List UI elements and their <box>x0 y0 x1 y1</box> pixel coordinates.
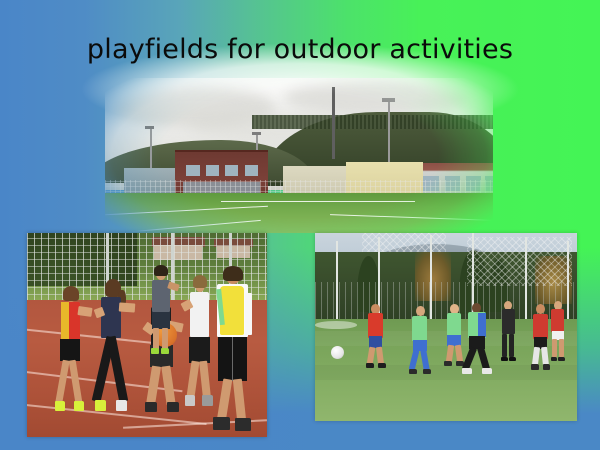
window <box>186 165 199 176</box>
soccer-player <box>546 301 572 361</box>
shoe <box>151 348 160 354</box>
turf-field <box>105 193 493 233</box>
ball-stop-net <box>362 233 446 252</box>
leg <box>68 360 82 404</box>
shorts <box>60 339 80 362</box>
photo-school-grounds <box>105 78 493 233</box>
soccer-player <box>462 303 496 374</box>
leg <box>153 328 159 350</box>
leg <box>477 346 490 370</box>
leg <box>552 339 557 357</box>
leg <box>445 344 453 362</box>
leg <box>509 334 514 357</box>
window <box>206 165 219 176</box>
leg <box>232 379 246 422</box>
leg <box>559 339 564 357</box>
floodlight-head <box>382 98 395 102</box>
shoe <box>366 363 374 368</box>
floodlight-head <box>252 132 261 135</box>
shoe <box>551 357 558 361</box>
leg <box>376 346 384 364</box>
shoe <box>167 402 179 412</box>
head <box>416 306 425 316</box>
leg <box>462 346 477 370</box>
torso <box>502 309 515 334</box>
leg <box>502 334 507 357</box>
leg <box>420 349 429 370</box>
hair <box>63 286 79 301</box>
shoe <box>145 402 157 412</box>
torso <box>412 316 427 342</box>
photo-soccer <box>315 233 577 421</box>
photo-basketball <box>27 233 267 437</box>
shoe <box>423 369 431 374</box>
leg <box>216 379 232 422</box>
shoe <box>444 361 452 366</box>
treeline <box>252 115 493 129</box>
arm <box>118 303 135 313</box>
hair <box>154 265 167 276</box>
shoe <box>531 364 538 369</box>
leg <box>146 365 161 405</box>
antenna-tower <box>332 87 335 158</box>
head <box>536 304 545 314</box>
coach-standing <box>496 301 522 361</box>
shoe <box>378 363 386 368</box>
shoe <box>161 348 170 354</box>
torso <box>368 313 382 337</box>
shoe <box>185 395 196 405</box>
page-title: playfields for outdoor activities <box>0 34 600 65</box>
torso <box>101 297 120 338</box>
leg <box>367 346 375 365</box>
shoe <box>213 417 229 430</box>
jacket-panel <box>478 313 486 337</box>
ball-stop-net <box>467 237 572 286</box>
leg <box>409 349 419 370</box>
shoe <box>409 369 417 374</box>
soccer-ball <box>331 346 344 359</box>
leg <box>107 336 128 403</box>
training-vest <box>220 286 244 335</box>
shoe <box>74 401 85 411</box>
shoe <box>235 418 251 431</box>
basketball-player <box>205 270 267 433</box>
shoe <box>95 400 106 411</box>
hair <box>223 266 243 281</box>
shoe <box>501 357 508 361</box>
shoe <box>116 400 127 411</box>
torso <box>551 309 564 332</box>
soccer-player <box>362 304 391 368</box>
basketball-player <box>89 282 139 415</box>
shoe <box>558 357 565 361</box>
pitch-marking <box>315 321 357 329</box>
floodlight-head <box>145 126 154 129</box>
soccer-player <box>407 306 436 374</box>
shorts-stripe <box>232 337 233 381</box>
window <box>245 165 258 176</box>
leg <box>161 365 175 405</box>
slide-canvas: playfields for outdoor activities <box>0 0 600 450</box>
shoe <box>55 401 66 411</box>
shoe <box>543 364 550 369</box>
shorts <box>152 312 170 329</box>
torso <box>447 313 462 337</box>
arm-sleeve <box>245 293 252 335</box>
window <box>225 165 238 176</box>
leg-sock <box>532 347 540 366</box>
shoe <box>462 368 472 374</box>
vest <box>61 302 69 340</box>
shoe <box>482 368 492 374</box>
leg <box>186 361 199 398</box>
leg <box>55 360 70 404</box>
shoe <box>509 357 516 361</box>
cloud <box>283 81 469 115</box>
leg <box>162 328 168 350</box>
field-line <box>221 201 415 202</box>
